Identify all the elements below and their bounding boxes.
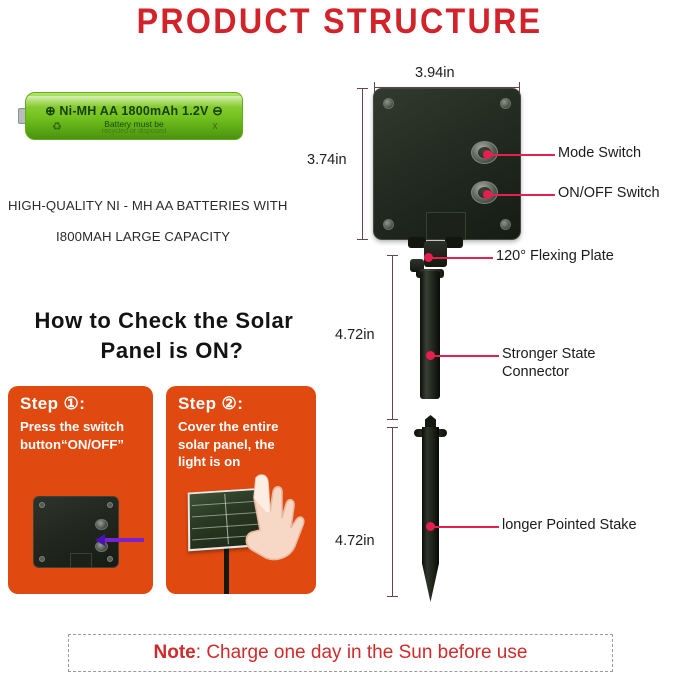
callout-onoff-switch: ON/OFF Switch [558, 184, 660, 202]
dimension-label-width: 3.94in [415, 65, 455, 81]
step-1-body: Press the switch button“ON/OFF” [20, 418, 147, 453]
step-2-body: Cover the entire solar panel, the light … [178, 418, 310, 471]
note-text: Note: Charge one day in the Sun before u… [154, 642, 528, 664]
note-separator: : [196, 642, 207, 663]
no-trash-icon: ☓ [212, 120, 218, 133]
product-structure-infographic: PRODUCT STRUCTURE ⊕ Ni-MH AA 1800mAh 1.2… [0, 0, 679, 684]
dimension-tick [387, 596, 398, 597]
screw-icon [383, 219, 394, 230]
page-title: PRODUCT STRUCTURE [27, 2, 652, 42]
callout-line-stake [433, 526, 499, 528]
step-1-title: Step ①: [20, 394, 85, 414]
dimension-line-stake [392, 427, 393, 597]
callout-line-flexing-plate [431, 257, 493, 259]
mode-switch-button [95, 519, 108, 530]
screw-icon [383, 98, 394, 109]
recycle-icon: ♻ [52, 120, 62, 133]
screw-icon [107, 502, 113, 508]
dimension-tick [357, 239, 368, 240]
screw-icon [39, 502, 45, 508]
dimension-label-height: 3.74in [307, 152, 347, 168]
callout-connector: Stronger State Connector [502, 345, 596, 381]
callout-connector-line1: Stronger State [502, 345, 596, 363]
callout-line-mode-switch [490, 154, 555, 156]
dimension-tick [387, 427, 398, 428]
battery-caption-line1: HIGH-QUALITY NI - MH AA BATTERIES WITH [8, 198, 288, 213]
battery-body: ⊕ Ni-MH AA 1800mAh 1.2V ⊖ Battery must b… [25, 92, 243, 140]
solar-panel-back [373, 88, 521, 240]
callout-mode-switch: Mode Switch [558, 144, 641, 162]
screw-icon [39, 556, 45, 562]
panel-foot [70, 553, 92, 568]
battery-label-main: ⊕ Ni-MH AA 1800mAh 1.2V ⊖ [26, 103, 242, 118]
dimension-line-connector [392, 255, 393, 420]
dimension-label-stake: 4.72in [335, 533, 375, 549]
dimension-tick [387, 419, 398, 420]
callout-line-connector [433, 355, 499, 357]
pointed-stake [422, 427, 439, 602]
callout-flexing-plate: 120° Flexing Plate [496, 247, 614, 265]
connector-tube [420, 271, 440, 399]
howto-heading-line1: How to Check the Solar [4, 306, 324, 336]
hand-icon [236, 472, 308, 564]
note-label: Note [154, 642, 196, 663]
step-card-1: Step ①: Press the switch button“ON/OFF” [8, 386, 153, 594]
screw-icon [107, 556, 113, 562]
screw-icon [500, 219, 511, 230]
note-body: Charge one day in the Sun before use [206, 642, 527, 663]
callout-stake: longer Pointed Stake [502, 516, 637, 534]
dimension-tick [357, 88, 368, 89]
screw-icon [500, 98, 511, 109]
battery-illustration: ⊕ Ni-MH AA 1800mAh 1.2V ⊖ Battery must b… [18, 92, 243, 140]
note-box: Note: Charge one day in the Sun before u… [68, 634, 613, 672]
dimension-line-height [362, 88, 363, 240]
solar-panel-pole [224, 544, 229, 594]
howto-heading: How to Check the Solar Panel is ON? [4, 306, 324, 365]
panel-mount-foot [426, 212, 466, 240]
howto-heading-line2: Panel is ON? [4, 336, 324, 366]
dimension-label-connector: 4.72in [335, 327, 375, 343]
callout-connector-line2: Connector [502, 363, 596, 381]
product-diagram: 3.94in 3.74in 4.72in 4.72in [330, 55, 679, 600]
pointer-arrow-icon [104, 538, 144, 542]
battery-caption-line2: I800MAH LARGE CAPACITY [56, 229, 230, 244]
callout-line-onoff-switch [490, 194, 555, 196]
step-1-panel-image [33, 496, 119, 568]
bracket-wing-right [445, 237, 463, 248]
dimension-tick [387, 255, 398, 256]
step-2-title: Step ②: [178, 394, 243, 414]
step-card-2: Step ②: Cover the entire solar panel, th… [166, 386, 316, 594]
